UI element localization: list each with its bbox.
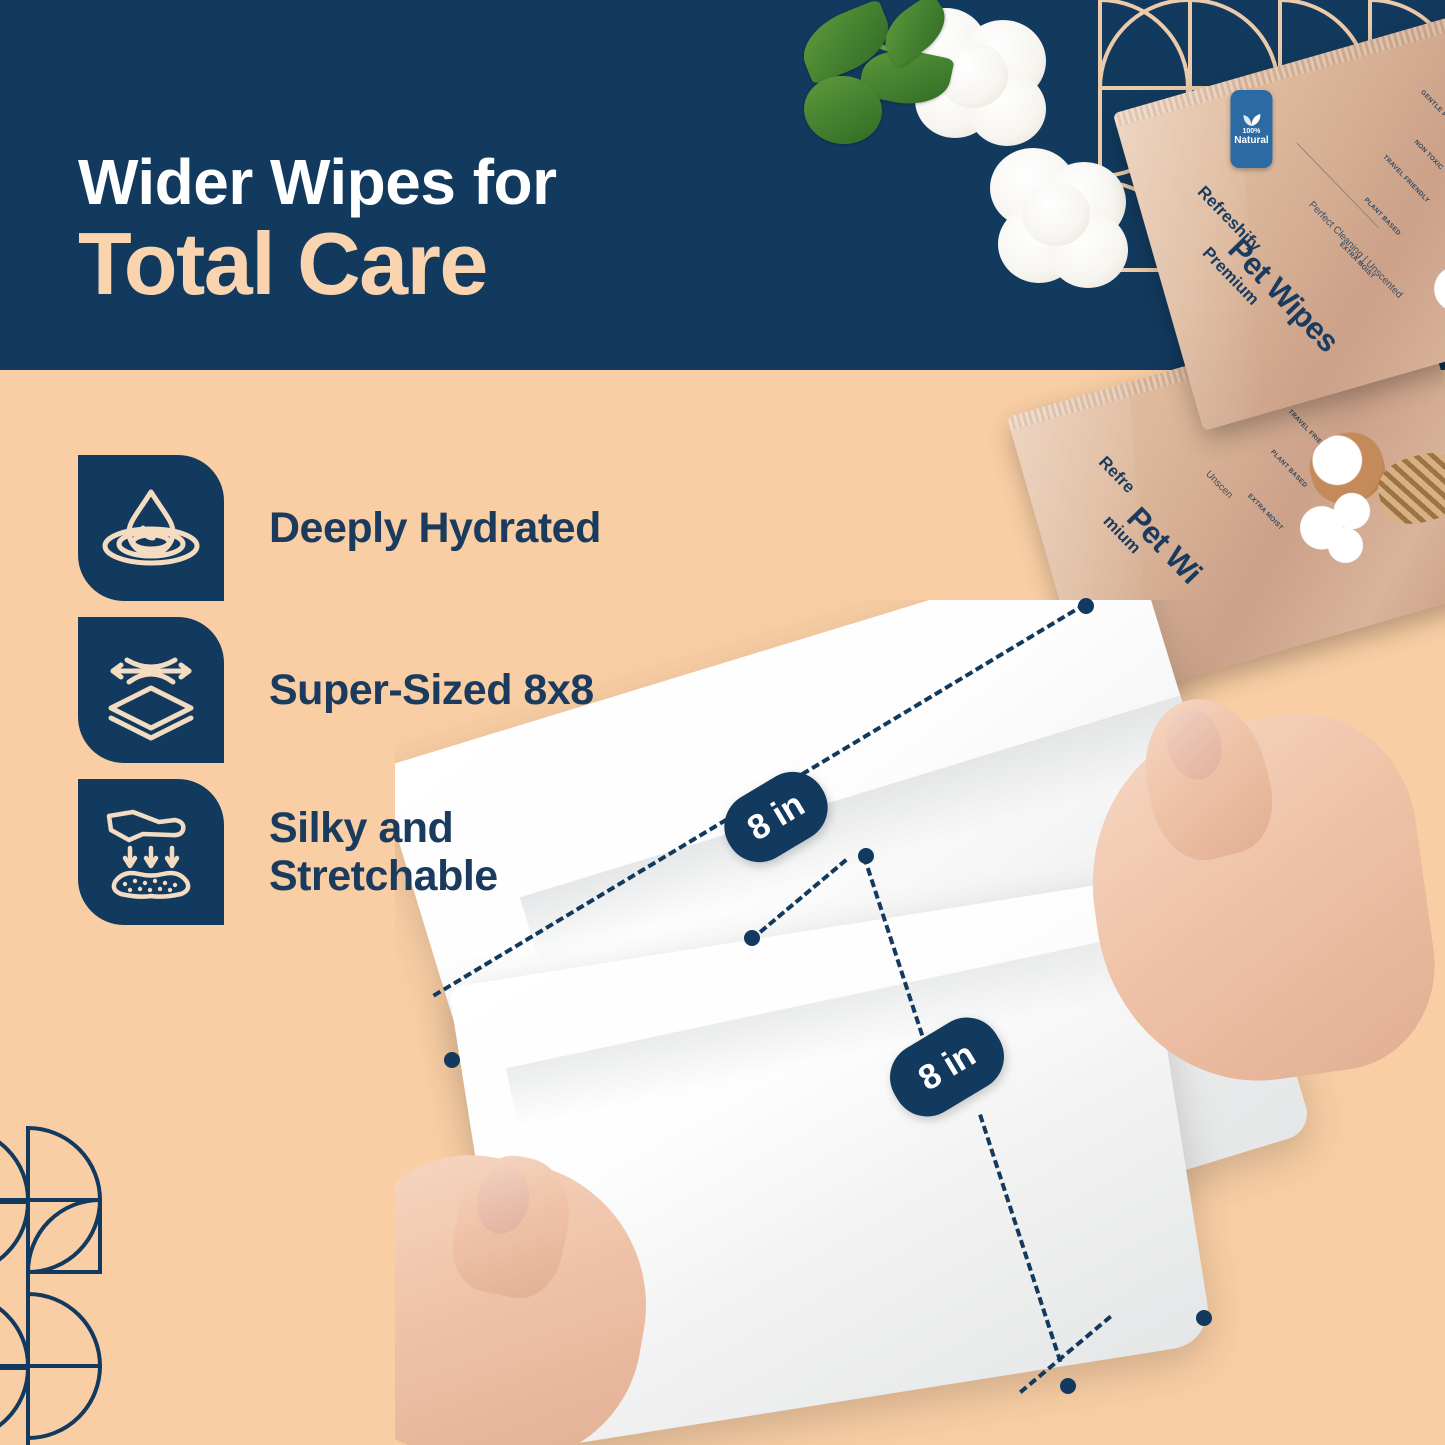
measure-dot-icon (1196, 1310, 1212, 1326)
natural-badge-text: Natural (1234, 135, 1268, 146)
leaf-icon (1241, 112, 1261, 128)
feature-icon-tile (78, 779, 224, 925)
package-back-feature-2: PLANT BASED (1269, 449, 1308, 489)
feature-icon-tile (78, 617, 224, 763)
feature-icon-tile (78, 455, 224, 601)
feature-label-line-2: Stretchable (269, 852, 498, 900)
measure-dot-icon (744, 930, 760, 946)
hand-pressing-soft-pad-icon (99, 800, 203, 904)
package-subtitle: Perfect Cleaning | Unscented (1306, 199, 1404, 300)
headline-line-2: Total Care (78, 220, 898, 308)
stacked-layers-width-arrow-icon (99, 638, 203, 742)
feature-label: Super-Sized 8x8 (269, 666, 594, 714)
natural-badge: 100% Natural (1230, 90, 1272, 168)
headline: Wider Wipes for Total Care (78, 150, 898, 308)
cotton-branch-icon (1412, 229, 1445, 346)
headline-line-1: Wider Wipes for (78, 150, 898, 214)
natural-badge-pct: 100% (1243, 128, 1261, 135)
feature-label-line-1: Silky and (269, 804, 453, 852)
measure-dot-icon (1060, 1378, 1076, 1394)
feature-label: Deeply Hydrated (269, 504, 601, 552)
feature-item-silky-stretchable[interactable]: Silky and Stretchable (78, 779, 498, 925)
leaf-outline-pattern-icon (0, 1108, 260, 1445)
package-feature-non-toxic: NON TOXIC (1413, 139, 1445, 172)
package-divider (1297, 143, 1380, 229)
package-feature-travel-friendly: TRAVEL FRIENDLY (1381, 154, 1430, 205)
package-back-feature-0: EXTRA MOIST (1246, 493, 1284, 532)
feature-item-deeply-hydrated[interactable]: Deeply Hydrated (78, 455, 601, 601)
water-droplet-ripple-icon (99, 476, 203, 580)
feature-label: Silky and Stretchable (269, 804, 498, 900)
feature-item-super-sized[interactable]: Super-Sized 8x8 (78, 617, 594, 763)
package-back-subtitle: Unscen (1203, 469, 1234, 501)
package-feature-gentle-formula: GENTLE FORMULA (1419, 89, 1445, 141)
product-infographic: Wider Wipes for Total Care Refre mium Pe… (0, 0, 1445, 1445)
measure-dot-icon (444, 1052, 460, 1068)
